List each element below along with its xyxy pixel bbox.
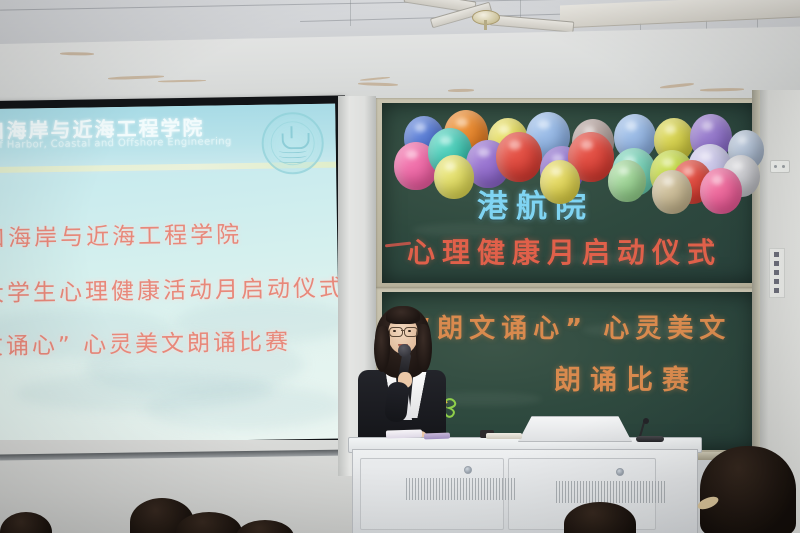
- presentation-slide: 口海岸与近海工程学院 e of Harbor, Coastal and Offs…: [0, 104, 340, 444]
- microphone-head-icon: [398, 344, 411, 357]
- slide-line-3: 文诵心” 心灵美文朗诵比赛: [0, 322, 291, 361]
- gooseneck-mic-base: [636, 436, 664, 442]
- presenter-glasses-left: [389, 327, 403, 337]
- vent-grill-left: [406, 478, 516, 500]
- audience-head-foreground: [700, 446, 796, 533]
- presenter-hair-left: [374, 326, 390, 372]
- power-outlet[interactable]: [770, 160, 790, 173]
- glasses-bridge: [401, 330, 404, 331]
- purple-paper[interactable]: [424, 433, 450, 440]
- gooseneck-mic-head-icon: [643, 418, 649, 424]
- slide-line-1: 口海岸与近海工程学院: [0, 215, 242, 253]
- lecture-hall-photo: 口海岸与近海工程学院 e of Harbor, Coastal and Offs…: [0, 0, 800, 533]
- blackboard-subtitle-cn: 心理健康月启动仪式: [407, 231, 722, 271]
- papers-on-desk[interactable]: [386, 429, 422, 438]
- computer-monitor[interactable]: [518, 416, 632, 442]
- slide-line-2: 大学生心理健康活动月启动仪式: [0, 268, 340, 308]
- presenter-hair-right: [416, 324, 432, 372]
- vent-grill-right: [556, 481, 666, 503]
- blackboard-lower-line-2: 朗诵比赛: [554, 358, 698, 397]
- projection-screen: 口海岸与近海工程学院 e of Harbor, Coastal and Offs…: [0, 95, 350, 451]
- presenter-fringe: [386, 307, 420, 324]
- book-on-desk[interactable]: [486, 433, 522, 439]
- blackboard-lower-line-1: “朗文诵心” 心灵美文: [414, 308, 731, 345]
- podium-lock-left[interactable]: [464, 466, 472, 474]
- wall-sign: [769, 248, 785, 298]
- podium-lock-right[interactable]: [616, 468, 624, 476]
- presenter-glasses-right: [404, 327, 418, 337]
